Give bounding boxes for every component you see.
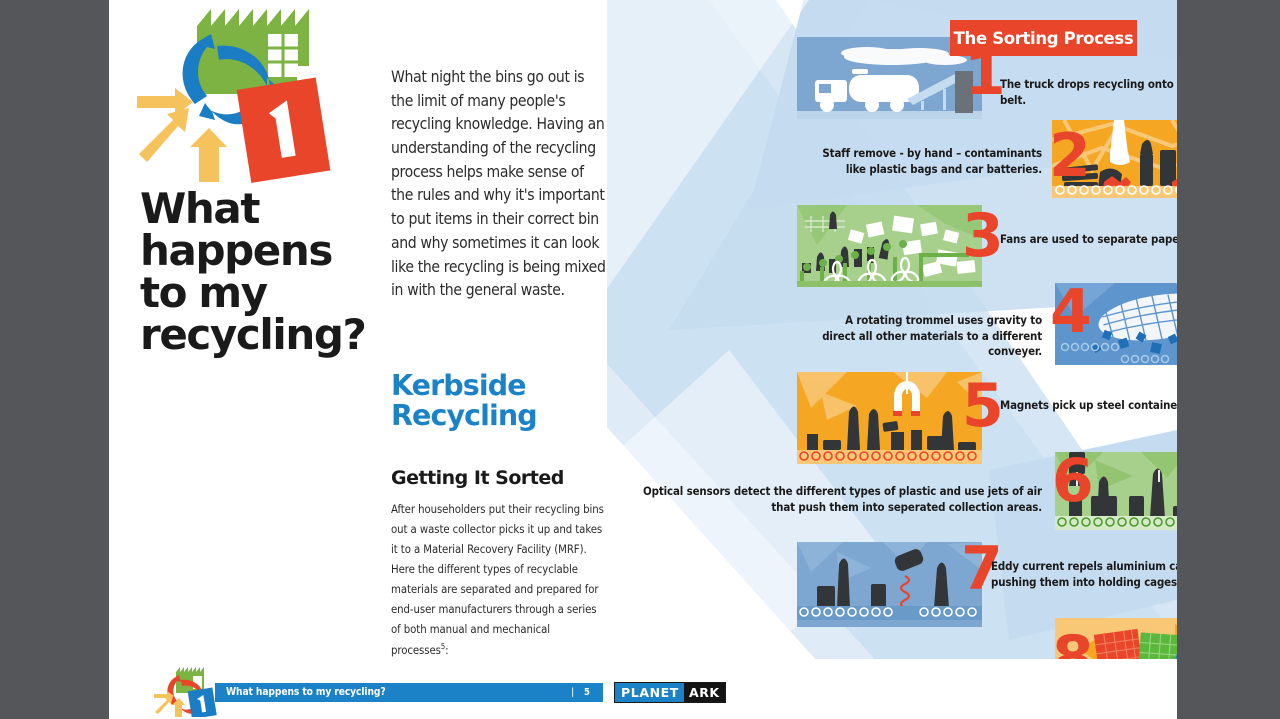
step-2-caption: Staff remove - by hand – contaminants li… [809, 146, 1042, 177]
step-6-caption: Optical sensors detect the different typ… [639, 484, 1042, 515]
kerbside-heading-line-1: Kerbside [391, 371, 611, 401]
footer: What happens to my recycling? | 5 PLANET… [109, 659, 1177, 719]
sorting-process-label: The Sorting Process [954, 29, 1134, 48]
step-5-number: 5 [962, 376, 1002, 436]
body-tail: : [445, 644, 448, 657]
footer-page-number: 5 [584, 687, 590, 698]
getting-it-sorted-subheading: Getting It Sorted [391, 467, 564, 489]
body-main: After householders put their recycling b… [391, 503, 604, 657]
step-3-illustration-fans-blowing-paper [797, 205, 982, 287]
planet-ark-logo: PLANET ARK [614, 682, 726, 703]
planet-ark-logo-planet: PLANET [615, 683, 684, 702]
step-7-caption: Eddy current repels aluminium cans, push… [991, 559, 1177, 590]
step-5-caption: Magnets pick up steel containers. [1000, 398, 1177, 414]
recycling-brand-logo-icon [137, 4, 352, 184]
title-line-1: What [140, 188, 400, 230]
kerbside-heading-line-2: Recycling [391, 401, 611, 431]
title-line-3: to my [140, 272, 400, 314]
kerbside-heading: Kerbside Recycling [391, 371, 611, 432]
title-line-2: happens [140, 230, 400, 272]
step-1-caption: The truck drops recycling onto a conveye… [1000, 77, 1177, 108]
step-4-number: 4 [1050, 282, 1090, 342]
intro-paragraph: What night the bins go out is the limit … [391, 66, 607, 303]
step-7-illustration-eddy-current-repelling-can [797, 542, 982, 627]
footer-separator: | [571, 687, 574, 698]
footer-brand-logo-icon [154, 665, 224, 717]
middle-column: What night the bins go out is the limit … [379, 0, 607, 719]
step-3-number: 3 [962, 206, 1002, 266]
step-6-number: 6 [1052, 451, 1092, 511]
kerbside-body-paragraph: After householders put their recycling b… [391, 500, 605, 661]
sorting-process-badge: The Sorting Process [950, 20, 1137, 56]
page-title: What happens to my recycling? [140, 188, 400, 356]
planet-ark-logo-ark: ARK [684, 683, 725, 702]
footer-title-bar: What happens to my recycling? | 5 [215, 683, 603, 702]
footer-title: What happens to my recycling? [226, 687, 386, 698]
page-canvas: What happens to my recycling? What night… [109, 0, 1177, 719]
step-3-caption: Fans are used to separate paper. [1000, 232, 1177, 248]
step-2-number: 2 [1049, 126, 1089, 186]
step-5-illustration-magnet-lifting-steel [797, 372, 982, 464]
title-line-4: recycling? [140, 314, 400, 356]
step-4-caption: A rotating trommel uses gravity to direc… [809, 313, 1042, 360]
